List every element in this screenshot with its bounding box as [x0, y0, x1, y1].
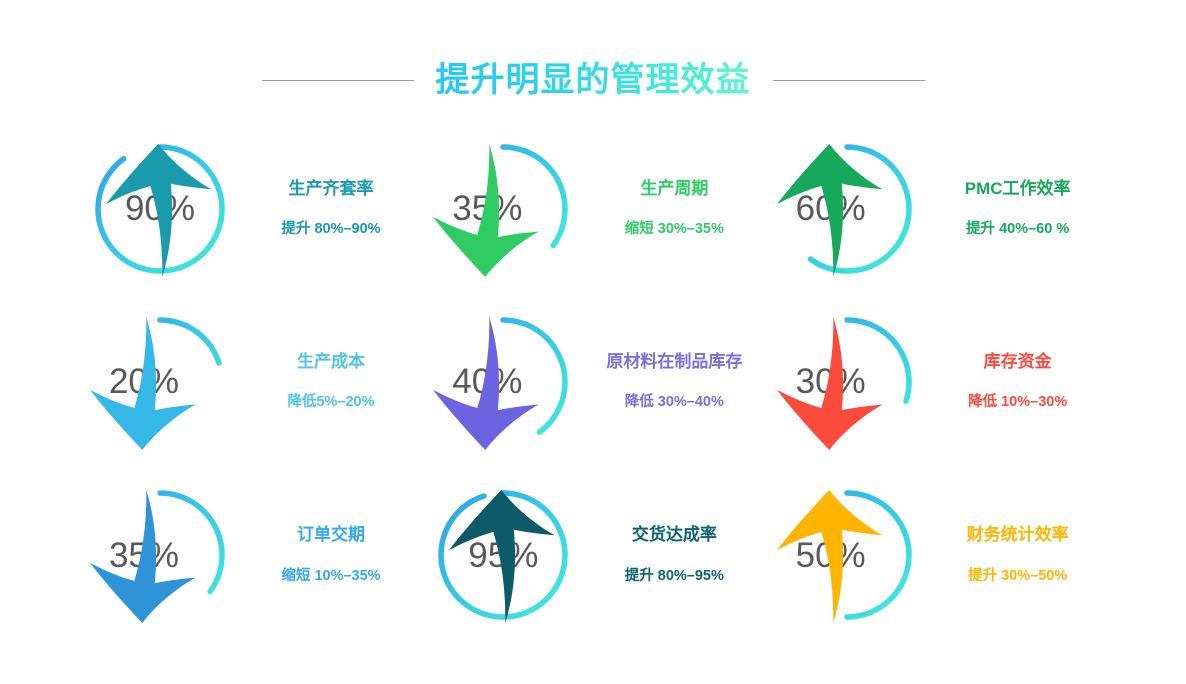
metric-title: 交货达成率: [632, 525, 717, 545]
gauge-raw-material-wip-inventory: 40%: [429, 308, 577, 456]
metric-subtitle: 降低 10%–30%: [968, 394, 1067, 411]
header-rule-left: [262, 80, 414, 81]
gauge-pmc-work-efficiency: 60%: [773, 135, 921, 283]
metric-title: 生产周期: [640, 179, 708, 199]
metrics-grid: 90% 生产齐套率 提升 80%–90% 35% 生产周期: [86, 122, 1116, 642]
metric-subtitle: 提升 30%–50%: [968, 568, 1067, 585]
metric-card-financial-statistics-efficiency[interactable]: 50% 财务统计效率 提升 30%–50%: [773, 469, 1116, 642]
metric-card-production-cost[interactable]: 20% 生产成本 降低5%–20%: [86, 295, 429, 468]
gauge-ring: [773, 135, 921, 283]
gauge-ring: [86, 135, 234, 283]
metric-title: 财务统计效率: [967, 525, 1069, 545]
gauge-ring: [429, 135, 577, 283]
metric-subtitle: 提升 40%–60 %: [966, 221, 1069, 238]
metric-card-production-cycle[interactable]: 35% 生产周期 缩短 30%–35%: [429, 122, 772, 295]
gauge-ring: [429, 481, 577, 629]
gauge-ring: [86, 308, 234, 456]
metric-card-production-kitting-rate[interactable]: 90% 生产齐套率 提升 80%–90%: [86, 122, 429, 295]
metric-card-delivery-achievement-rate[interactable]: 95% 交货达成率 提升 80%–95%: [429, 469, 772, 642]
metric-labels: 生产齐套率 提升 80%–90%: [256, 179, 406, 239]
gauge-production-kitting-rate: 90%: [86, 135, 234, 283]
metric-card-inventory-capital[interactable]: 30% 库存资金 降低 10%–30%: [773, 295, 1116, 468]
page-header: 提升明显的管理效益: [0, 52, 1186, 108]
gauge-ring: [773, 481, 921, 629]
metric-title: 生产成本: [297, 352, 365, 372]
metric-title: 库存资金: [984, 352, 1052, 372]
gauge-production-cycle: 35%: [429, 135, 577, 283]
gauge-financial-statistics-efficiency: 50%: [773, 481, 921, 629]
metric-subtitle: 缩短 10%–35%: [281, 568, 380, 585]
gauge-order-delivery-lead-time: 35%: [86, 481, 234, 629]
gauge-ring: [429, 308, 577, 456]
gauge-ring: [773, 308, 921, 456]
metric-subtitle: 提升 80%–95%: [625, 568, 724, 585]
header-rule-right: [773, 80, 925, 81]
metric-subtitle: 提升 80%–90%: [281, 221, 380, 238]
gauge-delivery-achievement-rate: 95%: [429, 481, 577, 629]
metric-subtitle: 缩短 30%–35%: [625, 221, 724, 238]
metric-card-order-delivery-lead-time[interactable]: 35% 订单交期 缩短 10%–35%: [86, 469, 429, 642]
gauge-ring: [86, 481, 234, 629]
metric-title: PMC工作效率: [965, 179, 1071, 199]
metric-title: 原材料在制品库存: [606, 352, 742, 372]
metric-labels: 交货达成率 提升 80%–95%: [599, 525, 749, 585]
metric-card-pmc-work-efficiency[interactable]: 60% PMC工作效率 提升 40%–60 %: [773, 122, 1116, 295]
metric-labels: 生产周期 缩短 30%–35%: [599, 179, 749, 239]
metric-card-raw-material-wip-inventory[interactable]: 40% 原材料在制品库存 降低 30%–40%: [429, 295, 772, 468]
metric-labels: 订单交期 缩短 10%–35%: [256, 525, 406, 585]
metric-labels: PMC工作效率 提升 40%–60 %: [943, 179, 1093, 239]
page-title: 提升明显的管理效益: [436, 60, 751, 101]
metric-title: 生产齐套率: [289, 179, 374, 199]
gauge-inventory-capital: 30%: [773, 308, 921, 456]
metric-subtitle: 降低 30%–40%: [625, 394, 724, 411]
gauge-production-cost: 20%: [86, 308, 234, 456]
metric-labels: 库存资金 降低 10%–30%: [943, 352, 1093, 412]
metric-subtitle: 降低5%–20%: [287, 394, 374, 411]
metric-labels: 原材料在制品库存 降低 30%–40%: [599, 352, 749, 412]
metric-labels: 财务统计效率 提升 30%–50%: [943, 525, 1093, 585]
metric-labels: 生产成本 降低5%–20%: [256, 352, 406, 412]
metric-title: 订单交期: [297, 525, 365, 545]
